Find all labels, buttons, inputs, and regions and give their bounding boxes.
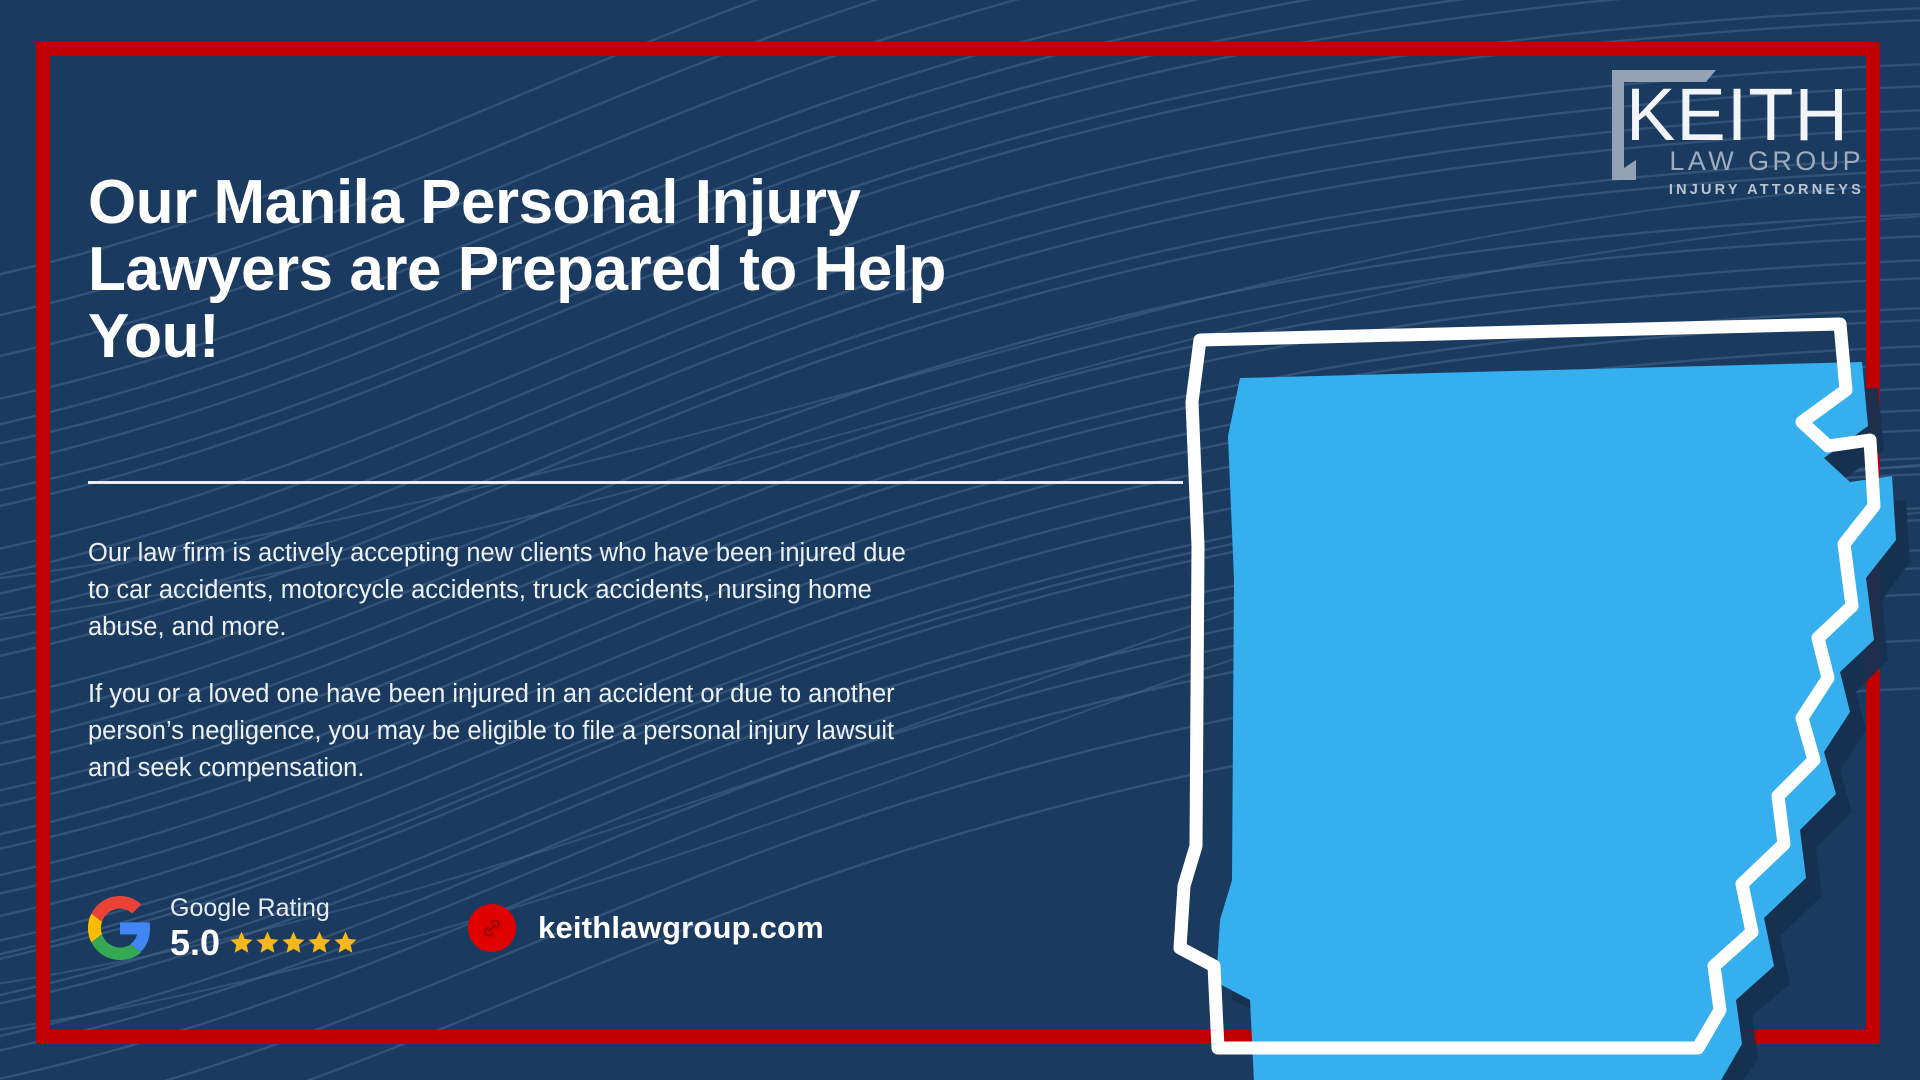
map-fill bbox=[1216, 362, 1896, 1080]
logo-keith-text: KEITH bbox=[1626, 73, 1849, 156]
badges-row: Google Rating 5.0 bbox=[88, 895, 824, 961]
star-icon bbox=[255, 930, 280, 955]
page-title: Our Manila Personal Injury Lawyers are P… bbox=[88, 170, 988, 371]
arkansas-map-graphic bbox=[1140, 300, 1920, 1080]
body-copy-block: Our law firm is actively accepting new c… bbox=[88, 535, 933, 787]
google-g-icon bbox=[88, 896, 152, 960]
paragraph-one: Our law firm is actively accepting new c… bbox=[88, 535, 933, 646]
website-url[interactable]: keithlawgroup.com bbox=[538, 910, 824, 946]
keith-law-group-logo: KEITH LAW GROUP INJURY ATTORNEYS bbox=[1608, 62, 1868, 202]
google-rating-badge[interactable]: Google Rating 5.0 bbox=[88, 895, 358, 961]
section-divider bbox=[88, 481, 1183, 484]
google-rating-score: 5.0 bbox=[170, 925, 220, 961]
star-icon bbox=[333, 930, 358, 955]
google-rating-text: Google Rating 5.0 bbox=[170, 895, 358, 961]
headline-block: Our Manila Personal Injury Lawyers are P… bbox=[88, 170, 988, 371]
google-rating-stars bbox=[229, 930, 358, 955]
paragraph-two: If you or a loved one have been injured … bbox=[88, 676, 933, 787]
star-icon bbox=[281, 930, 306, 955]
website-badge[interactable]: keithlawgroup.com bbox=[468, 904, 824, 952]
logo-lawgroup-text: LAW GROUP bbox=[1669, 146, 1864, 176]
star-icon bbox=[307, 930, 332, 955]
star-icon bbox=[229, 930, 254, 955]
google-rating-label: Google Rating bbox=[170, 895, 358, 923]
logo-tagline-text: INJURY ATTORNEYS bbox=[1669, 182, 1864, 198]
link-chain-icon bbox=[468, 904, 516, 952]
promo-banner: KEITH LAW GROUP INJURY ATTORNEYS Our Man… bbox=[0, 0, 1920, 1080]
